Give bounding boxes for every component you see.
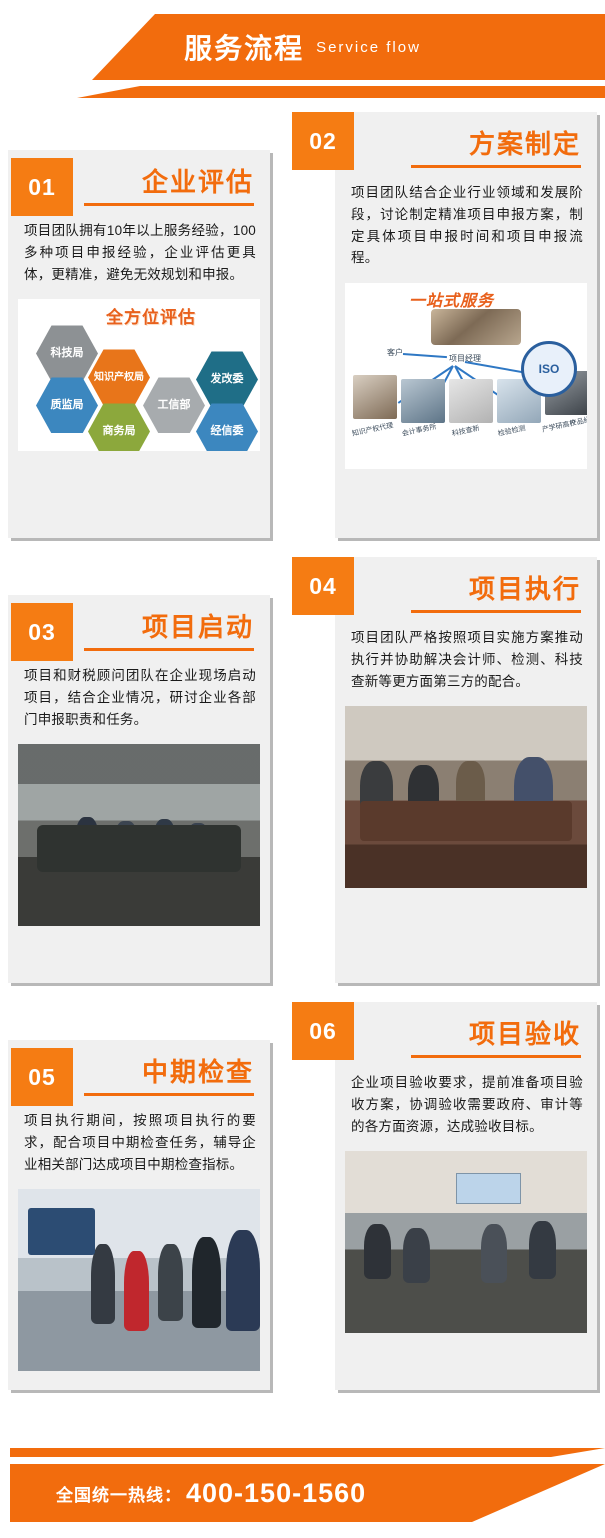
hexagon-node-jingxin: 经信委 [196, 403, 258, 451]
card-media-04 [345, 706, 587, 888]
service-diagram-team-photo [431, 309, 521, 345]
photo-figure [154, 819, 176, 857]
header-accent-stripe [0, 86, 605, 98]
step-number-badge-01: 01 [11, 158, 73, 216]
service-node-3 [449, 379, 493, 423]
photo-figure [529, 1221, 556, 1279]
step-number-badge-05: 05 [11, 1048, 73, 1106]
photo-figure [360, 761, 394, 823]
service-node-2 [401, 379, 445, 423]
iso-seal-icon: ISO [521, 341, 577, 397]
service-diagram-title: 一站式服务 [409, 287, 494, 311]
card-media-06 [345, 1151, 587, 1333]
service-partner-label-3: 科技查新 [451, 424, 480, 440]
page-title-cn: 服务流程 [184, 27, 304, 67]
page-title-en: Service flow [316, 39, 421, 56]
step-number-badge-06: 06 [292, 1002, 354, 1060]
page-footer: 全国统一热线： 400-150-1560 [0, 1408, 605, 1538]
card-media-05 [18, 1189, 260, 1371]
photo-figure [514, 757, 553, 830]
hexagon-diagram-title: 全方位评估 [106, 303, 196, 328]
photo-figure [158, 1244, 182, 1320]
page-header: 服务流程 Service flow [0, 0, 605, 118]
service-partner-label-4: 检验检测 [497, 424, 526, 440]
service-diagram: 一站式服务 客户 项目经理 知识产权代理 会计事务所 科技查新 检验检测 产学研… [345, 283, 587, 469]
photo-meeting-room [18, 744, 260, 926]
photo-figure [91, 1244, 115, 1324]
step-number-badge-04: 04 [292, 557, 354, 615]
card-title-06: 项目验收 [335, 1002, 597, 1050]
card-media-01: 全方位评估 科技局 知识产权局 质监局 商务局 工信部 发改委 经信委 [18, 299, 260, 451]
photo-laptops-table [345, 706, 587, 888]
hexagon-node-shangwu: 商务局 [88, 403, 150, 451]
photo-figure [364, 1224, 391, 1279]
header-title-group: 服务流程 Service flow [0, 14, 605, 80]
footer-hotline-group: 全国统一热线： 400-150-1560 [56, 1464, 366, 1522]
hexagon-node-fagai: 发改委 [196, 351, 258, 407]
card-body-06: 企业项目验收要求，提前准备项目验收方案，协调验收需要政府、审计等的各方面资源，达… [335, 1058, 597, 1148]
photo-figure [76, 817, 98, 857]
service-label-client: 客户 [387, 347, 403, 358]
step-number-badge-03: 03 [11, 603, 73, 661]
card-media-03 [18, 744, 260, 926]
card-body-01: 项目团队拥有10年以上服务经验，100多种项目申报经验，企业评估更具体，更精准，… [8, 206, 270, 296]
card-body-03: 项目和财税顾问团队在企业现场启动项目，结合企业情况，研讨企业各部门申报职责和任务… [8, 651, 270, 741]
card-title-04: 项目执行 [335, 557, 597, 605]
photo-lobby-tour [18, 1189, 260, 1371]
photo-figure [115, 821, 137, 857]
service-partner-label-2: 会计事务所 [401, 422, 437, 439]
card-body-04: 项目团队严格按照项目实施方案推动执行并协助解决会计师、检测、科技查新等更方面第三… [335, 613, 597, 703]
photo-figure [226, 1230, 260, 1332]
card-title-02: 方案制定 [335, 112, 597, 160]
step-card-02[interactable]: 方案制定 项目团队结合企业行业领域和发展阶段，讨论制定精准项目申报方案，制定具体… [335, 112, 597, 538]
service-node-1 [353, 375, 397, 419]
hexagon-node-zhijian: 质监局 [36, 377, 98, 433]
card-body-02: 项目团队结合企业行业领域和发展阶段，讨论制定精准项目申报方案，制定具体项目申报时… [335, 168, 597, 279]
photo-figure [456, 761, 485, 816]
service-arrow-client-manager [403, 353, 447, 358]
hexagon-node-keji: 科技局 [36, 325, 98, 381]
photo-figure [187, 823, 209, 859]
step-card-04[interactable]: 项目执行 项目团队严格按照项目实施方案推动执行并协助解决会计师、检测、科技查新等… [335, 557, 597, 983]
service-partner-label-1: 知识产权代理 [351, 421, 394, 440]
hotline-label: 全国统一热线： [56, 1481, 182, 1506]
footer-accent-stripe [10, 1448, 605, 1457]
photo-figure [408, 765, 439, 823]
photo-figure [192, 1237, 221, 1328]
step-card-06[interactable]: 项目验收 企业项目验收要求，提前准备项目验收方案，协调验收需要政府、审计等的各方… [335, 1002, 597, 1390]
hexagon-node-zhishichanquan: 知识产权局 [88, 349, 150, 405]
hotline-number[interactable]: 400-150-1560 [186, 1478, 366, 1509]
card-media-02: 一站式服务 客户 项目经理 知识产权代理 会计事务所 科技查新 检验检测 产学研… [345, 283, 587, 469]
photo-figure [481, 1224, 508, 1282]
hexagon-diagram: 全方位评估 科技局 知识产权局 质监局 商务局 工信部 发改委 经信委 [18, 299, 260, 451]
photo-figure [124, 1251, 148, 1331]
hexagon-node-gongxin: 工信部 [143, 377, 205, 433]
step-number-badge-02: 02 [292, 112, 354, 170]
photo-figure [403, 1228, 430, 1283]
photo-certificates-room [345, 1151, 587, 1333]
card-body-05: 项目执行期间，按照项目执行的要求，配合项目中期检查任务，辅导企业相关部门达成项目… [8, 1096, 270, 1186]
